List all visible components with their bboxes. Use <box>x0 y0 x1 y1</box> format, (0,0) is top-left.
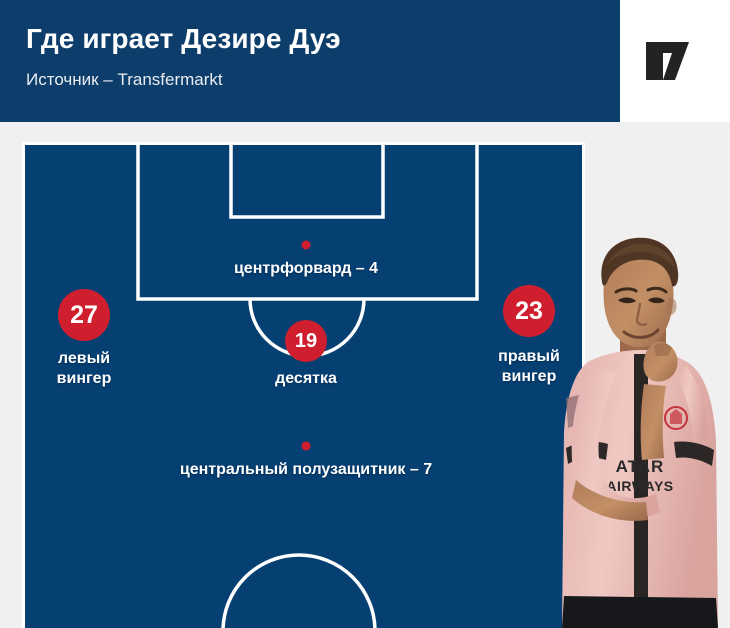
logo-area <box>620 0 730 122</box>
marker-dot-central-midfielder <box>302 442 311 451</box>
newspaper-n-logo-icon <box>642 39 708 83</box>
marker-badge-attacking-midfielder: 19 <box>285 320 327 362</box>
header-banner: Где играет Дезире Дуэ Источник – Transfe… <box>0 0 620 122</box>
marker-label-left-winger: левый вингер <box>57 349 112 389</box>
marker-badge-right-winger: 23 <box>503 285 555 337</box>
marker-badge-left-winger: 27 <box>58 289 110 341</box>
marker-label-right-winger: правый вингер <box>498 347 560 387</box>
marker-dot-centre-forward <box>302 241 311 250</box>
page-title: Где играет Дезире Дуэ <box>26 22 620 56</box>
svg-text:AIRWAYS: AIRWAYS <box>606 478 673 494</box>
marker-label-attacking-midfielder: десятка <box>275 369 337 389</box>
svg-text:ATAR: ATAR <box>616 457 665 476</box>
pitch-surface: центрфорвард – 4 19 десятка 27 левый вин… <box>25 145 582 628</box>
marker-label-centre-forward: центрфорвард – 4 <box>234 259 378 279</box>
source-subtitle: Источник – Transfermarkt <box>26 69 620 91</box>
marker-label-central-midfielder: центральный полузащитник – 7 <box>180 460 432 480</box>
infographic-root: Где играет Дезире Дуэ Источник – Transfe… <box>0 0 730 628</box>
pitch-container: центрфорвард – 4 19 десятка 27 левый вин… <box>22 142 585 628</box>
